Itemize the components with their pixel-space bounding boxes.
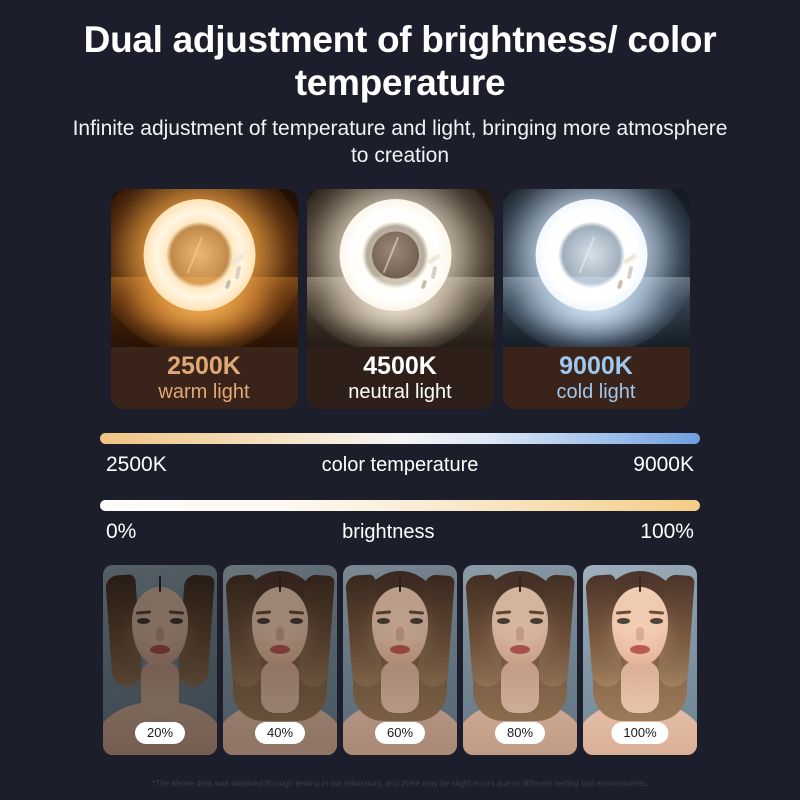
brightness-sample[interactable]: 80%	[463, 565, 577, 755]
brightness-badge: 60%	[375, 722, 425, 744]
temperature-name: warm light	[158, 381, 249, 403]
brightness-badge: 40%	[255, 722, 305, 744]
temperature-label-warm: 2500K warm light	[111, 347, 298, 409]
color-temperature-title: color temperature	[322, 454, 479, 477]
temperature-label-neutral: 4500K neutral light	[307, 347, 494, 409]
brightness-sample-row: 20% 40%	[0, 565, 800, 755]
header: Dual adjustment of brightness/ color tem…	[0, 0, 800, 170]
brightness-min: 0%	[106, 520, 136, 544]
page-subtitle: Infinite adjustment of temperature and l…	[62, 115, 738, 170]
ring-light-photo-warm	[111, 189, 298, 347]
color-temperature-min: 2500K	[106, 453, 167, 477]
temperature-card-neutral[interactable]: 4500K neutral light	[307, 189, 494, 409]
temperature-kelvin: 2500K	[167, 353, 241, 381]
temperature-kelvin: 4500K	[363, 353, 437, 381]
brightness-badge: 20%	[135, 722, 185, 744]
brightness-badge: 80%	[495, 722, 545, 744]
light-mount-icon	[231, 257, 255, 287]
brightness-sample[interactable]: 60%	[343, 565, 457, 755]
brightness-slider[interactable]: 0% brightness 100%	[100, 500, 700, 544]
slider-section: 2500K color temperature 9000K 0% brightn…	[100, 433, 700, 544]
brightness-gradient-bar[interactable]	[100, 500, 700, 511]
color-temperature-max: 9000K	[633, 453, 694, 477]
brightness-max: 100%	[640, 520, 694, 544]
light-mount-icon	[427, 257, 451, 287]
brightness-sample[interactable]: 100%	[583, 565, 697, 755]
color-temperature-labels: 2500K color temperature 9000K	[100, 453, 700, 477]
brightness-sample[interactable]: 20%	[103, 565, 217, 755]
temperature-kelvin: 9000K	[559, 353, 633, 381]
color-temperature-slider[interactable]: 2500K color temperature 9000K	[100, 433, 700, 477]
light-mount-icon	[623, 257, 647, 287]
temperature-name: neutral light	[348, 381, 451, 403]
page-title: Dual adjustment of brightness/ color tem…	[54, 18, 746, 105]
color-temperature-gradient-bar[interactable]	[100, 433, 700, 444]
temperature-label-cold: 9000K cold light	[503, 347, 690, 409]
temperature-card-row: 2500K warm light 4500K neutral light	[0, 189, 800, 409]
ring-light-photo-neutral	[307, 189, 494, 347]
brightness-labels: 0% brightness 100%	[100, 520, 700, 544]
brightness-badge: 100%	[611, 722, 668, 744]
temperature-name: cold light	[557, 381, 636, 403]
temperature-card-warm[interactable]: 2500K warm light	[111, 189, 298, 409]
footnote-disclaimer: *The above data was obtained through tes…	[0, 779, 800, 788]
temperature-card-cold[interactable]: 9000K cold light	[503, 189, 690, 409]
ring-light-photo-cold	[503, 189, 690, 347]
brightness-sample[interactable]: 40%	[223, 565, 337, 755]
brightness-title: brightness	[342, 521, 434, 544]
